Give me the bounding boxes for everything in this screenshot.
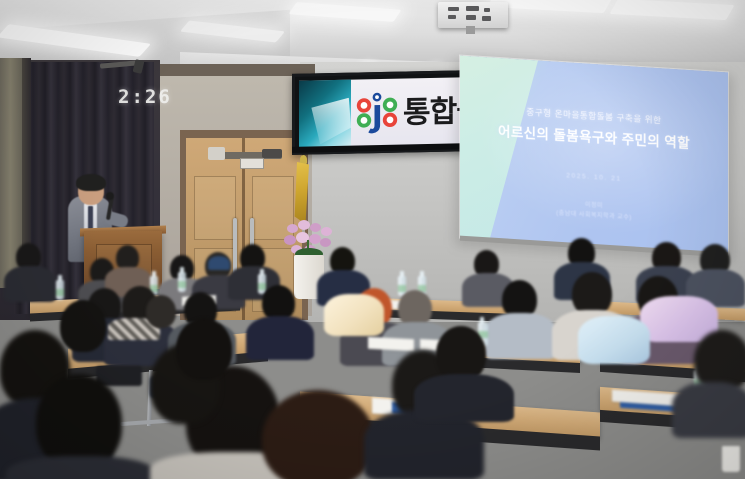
audience-shoulders [6,456,156,479]
audience-shoulders [414,374,514,422]
wall-clock: 2:26 [118,86,172,108]
audience-shoulders [484,313,557,359]
microphone-head [106,192,114,200]
paper-cup [722,446,740,472]
presenter-name: 이정미 [585,202,603,209]
flower-bouquet [324,294,384,336]
handout-papers [368,337,414,351]
door-sign [240,158,264,169]
audience-head [146,295,176,328]
door-handle[interactable] [233,218,237,274]
projector-icon [438,2,508,28]
banner-artwork [299,80,351,148]
audience-shoulders [672,382,745,438]
audience-head [262,390,374,479]
led-banner-display: 통합돌 [292,70,474,155]
water-bottle [178,272,186,292]
presenter-hair [76,174,106,191]
audience-shoulders [246,316,314,360]
door-closer-bracket [262,149,282,158]
jung-gu-district-logo [355,90,399,137]
audience-head [176,318,232,380]
projector-mount [466,26,475,34]
projection-screen: 중구형 온마을통합돌봄 구축을 위한 어르신의 돌봄욕구와 주민의 역할 202… [460,56,728,255]
audience-cap-icon [208,256,230,270]
door-closer-body [208,147,225,160]
audience-shoulders [4,266,56,302]
audience-head [60,300,106,352]
water-bottle [56,280,64,300]
flower-bouquet [578,316,650,364]
door-panel [194,176,236,240]
flag-finial [300,155,307,164]
wall-trim-band [150,64,315,76]
presentation-room-photo: 2:26 [0,0,745,479]
